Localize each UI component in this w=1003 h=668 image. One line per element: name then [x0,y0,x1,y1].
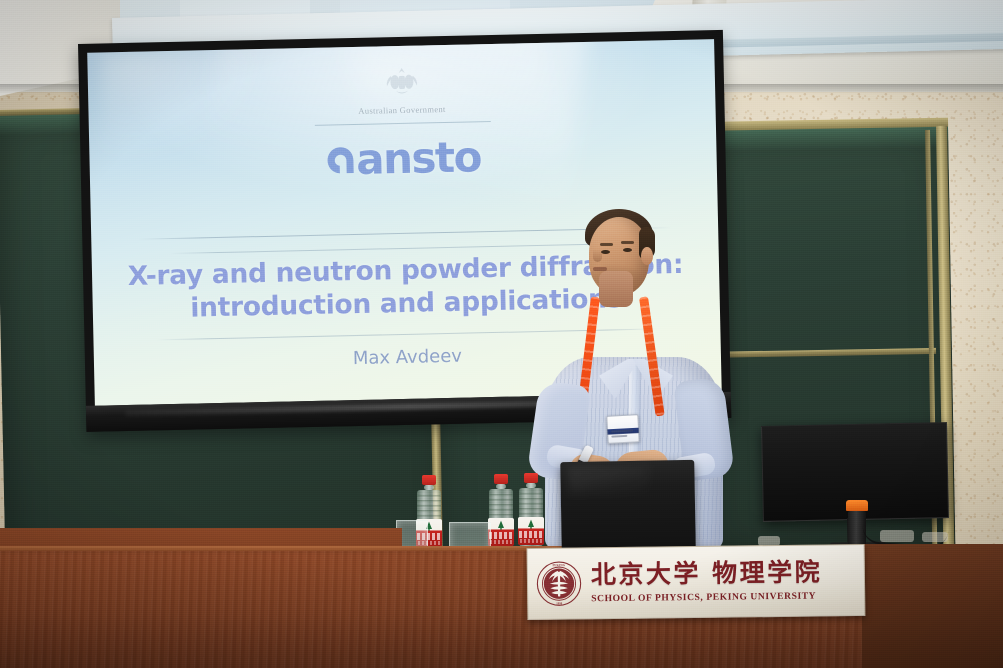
peking-university-seal-icon: PEKING 1898 [536,560,583,607]
banner-english-title: SCHOOL OF PHYSICS, PEKING UNIVERSITY [591,590,822,604]
svg-text:1898: 1898 [556,601,563,605]
slide-author: Max Avdeev [353,346,463,369]
presenter-neck [599,271,633,307]
thermos-cap [846,500,868,511]
name-badge [606,414,639,444]
banner-text-block: 北京大学 物理学院 SCHOOL OF PHYSICS, PEKING UNIV… [591,560,823,604]
badge-text-line [611,435,627,438]
bottle-cap [494,474,508,484]
eyebrow [600,243,613,246]
bottle-label [518,517,544,545]
bottle-label-subtext [490,540,512,544]
peking-university-banner: PEKING 1898 北京大学 物理学院 SCHOOL OF PHYSICS,… [527,544,866,620]
crest-divider [314,121,490,126]
water-bottle[interactable] [518,473,544,547]
desk-right-panel [862,544,1003,668]
water-bottle[interactable] [488,474,514,548]
svg-text:PEKING: PEKING [552,563,565,567]
thermos-flask[interactable] [846,500,868,548]
ansto-logo: ansto [325,132,482,184]
pine-tree-icon [496,520,506,530]
desk-item[interactable] [880,530,914,542]
ansto-wordmark: ansto [356,132,482,184]
bottle-label-text [519,531,543,538]
eye [623,248,632,252]
lecture-hall-photo: Australian Government ansto X-ray and ne… [0,0,1003,668]
desk-item[interactable] [922,532,948,542]
presenter-nose [593,249,602,262]
laptop-screen-gloss [568,466,649,494]
bottle-label-subtext [520,539,542,543]
pine-tree-icon [526,519,536,529]
bottle-cap [422,475,436,485]
eye [601,250,610,254]
ansto-a-mark-icon [325,144,356,175]
bottle-label-text [489,532,513,539]
badge-text-line [611,429,633,432]
bottle-cap [524,473,538,483]
australian-coat-of-arms-icon [378,63,425,104]
banner-chinese-title: 北京大学 物理学院 [591,560,823,589]
bottle-label [488,518,514,546]
australian-government-label: Australian Government [358,104,446,116]
presenter-laptop[interactable] [560,460,696,550]
eyebrow [621,241,634,244]
presenter-ear [641,247,653,265]
